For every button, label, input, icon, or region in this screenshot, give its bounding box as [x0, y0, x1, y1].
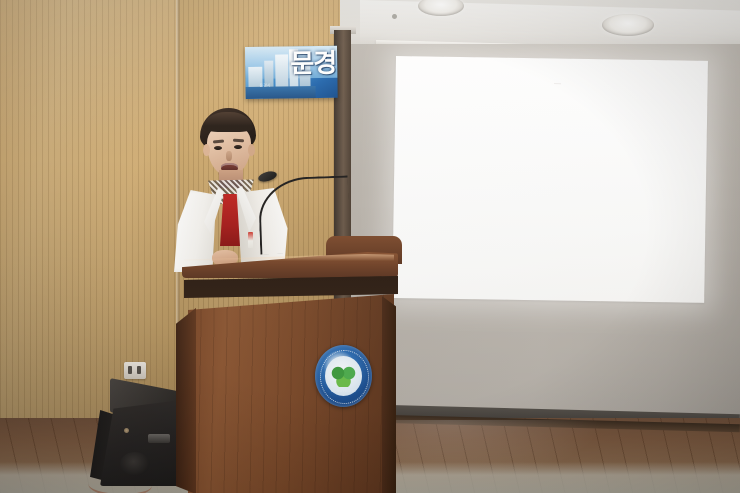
ceiling-fixture-dot [392, 14, 397, 19]
banner-bridge [246, 86, 316, 99]
presenter-ear [203, 144, 210, 156]
podium-emblem: MUNGYEONG [315, 345, 372, 407]
podium: MUNGYEONG [176, 232, 408, 493]
presenter-eye [234, 145, 242, 149]
recessed-downlight-icon [602, 14, 654, 36]
presenter-ear [248, 144, 255, 156]
emblem-green-mark-icon [331, 363, 356, 387]
photo-scene: — 문경시 문경 [0, 0, 740, 493]
presenter-eye [214, 146, 222, 150]
speaker-screw [124, 428, 129, 433]
presenter-nose [226, 151, 232, 161]
banner-building [275, 54, 289, 90]
wall-banner: 문경시 문경 [245, 46, 338, 99]
emblem-caption: MUNGYEONG [315, 389, 372, 393]
podium-recessed-band [184, 276, 398, 298]
wall-outlet-icon [124, 362, 146, 379]
speaker-cable [88, 472, 152, 493]
banner-text: 문경 [290, 50, 336, 77]
projection-screen: — [392, 56, 708, 303]
speaker-port [148, 434, 170, 443]
podium-left-face [176, 296, 196, 493]
podium-top-highlight [184, 254, 394, 261]
podium-right-edge [382, 290, 396, 493]
banner-caption: 문경시 [260, 83, 271, 89]
slide-title-text: — [470, 79, 645, 93]
